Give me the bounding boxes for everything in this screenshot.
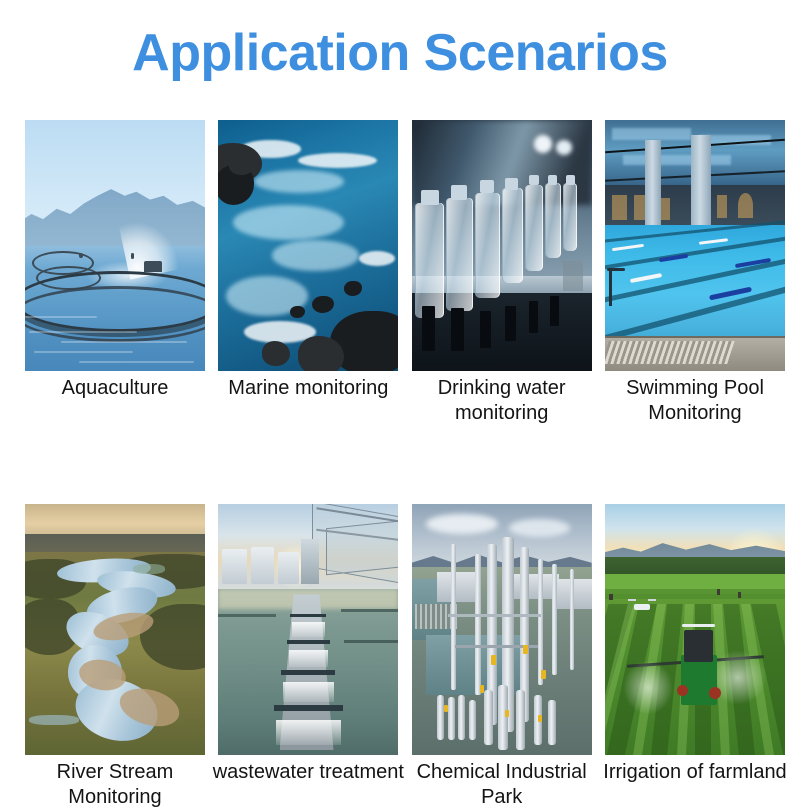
scenario-caption: wastewater treatment — [208, 760, 408, 785]
wastewater-treatment-photo[interactable] — [218, 504, 398, 755]
scenario-caption: Drinking water monitoring — [402, 376, 602, 426]
river-stream-monitoring-photo[interactable] — [25, 504, 205, 755]
swimming-pool-monitoring-photo[interactable] — [605, 120, 785, 371]
chemical-industrial-park-photo[interactable] — [412, 504, 592, 755]
drinking-water-monitoring-photo[interactable] — [412, 120, 592, 371]
scenario-card-wastewater-treatment[interactable]: wastewater treatment — [217, 504, 399, 810]
scenario-caption: Chemical Industrial Park — [402, 760, 602, 810]
application-scenarios-page: Application Scenarios — [0, 0, 800, 774]
scenario-card-irrigation-of-farmland[interactable]: Irrigation of farmland — [604, 504, 786, 810]
scenario-row-1: Aquaculture — [24, 120, 786, 426]
page-title: Application Scenarios — [0, 22, 800, 84]
scenario-card-aquaculture[interactable]: Aquaculture — [24, 120, 206, 426]
scenario-row-2: River Stream Monitoring — [24, 504, 786, 810]
scenario-card-swimming-pool-monitoring[interactable]: Swimming Pool Monitoring — [604, 120, 786, 426]
scenario-card-chemical-industrial-park[interactable]: Chemical Industrial Park — [411, 504, 593, 810]
scenario-grid: Aquaculture — [24, 120, 786, 810]
marine-monitoring-photo[interactable] — [218, 120, 398, 371]
scenario-caption: Swimming Pool Monitoring — [595, 376, 795, 426]
scenario-card-drinking-water-monitoring[interactable]: Drinking water monitoring — [411, 120, 593, 426]
irrigation-of-farmland-photo[interactable] — [605, 504, 785, 755]
scenario-card-river-stream-monitoring[interactable]: River Stream Monitoring — [24, 504, 206, 810]
scenario-card-marine-monitoring[interactable]: Marine monitoring — [217, 120, 399, 426]
aquaculture-photo[interactable] — [25, 120, 205, 371]
scenario-caption: Irrigation of farmland — [595, 760, 795, 785]
scenario-caption: Aquaculture — [15, 376, 215, 401]
scenario-caption: Marine monitoring — [208, 376, 408, 401]
scenario-caption: River Stream Monitoring — [15, 760, 215, 810]
